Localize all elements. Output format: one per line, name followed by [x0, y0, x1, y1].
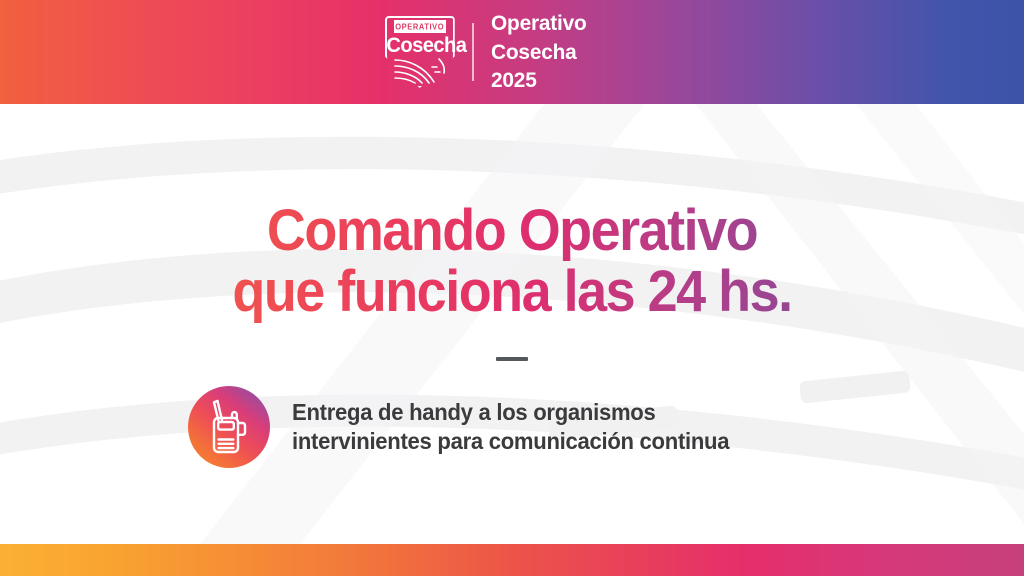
header-brand-group: OPERATIVO Cosecha	[385, 9, 590, 95]
header-title-line-2: Cosecha	[491, 38, 587, 67]
logo-field-furrows-icon	[394, 58, 446, 84]
bullet-text-line-2: intervinientes para comunicación continu…	[292, 427, 729, 456]
logo-operativo-banner: OPERATIVO	[394, 20, 446, 33]
headline-line-1: Comando Operativo	[36, 200, 988, 261]
headline-line-2: que funciona las 24 hs.	[36, 261, 988, 322]
cosecha-shield-logo: OPERATIVO Cosecha	[385, 16, 455, 88]
footer-band	[0, 544, 1024, 576]
walkie-talkie-icon	[188, 386, 270, 468]
logo-cosecha-text: Cosecha	[386, 35, 453, 56]
brand-divider	[472, 23, 474, 81]
main-content: Comando Operativo que funciona las 24 hs…	[0, 104, 1024, 544]
header-title-line-1: Operativo	[491, 9, 587, 38]
section-divider	[496, 357, 528, 361]
logo-operativo-text: OPERATIVO	[395, 22, 444, 31]
header-title: Operativo Cosecha 2025	[491, 9, 587, 95]
bullet-row: Entrega de handy a los organismos interv…	[188, 386, 747, 468]
page-title: Comando Operativo que funciona las 24 hs…	[36, 200, 988, 323]
bullet-text-line-1: Entrega de handy a los organismos	[292, 398, 729, 427]
header-title-line-3: 2025	[491, 66, 587, 95]
header-band: OPERATIVO Cosecha	[0, 0, 1024, 104]
bullet-text: Entrega de handy a los organismos interv…	[292, 398, 729, 457]
